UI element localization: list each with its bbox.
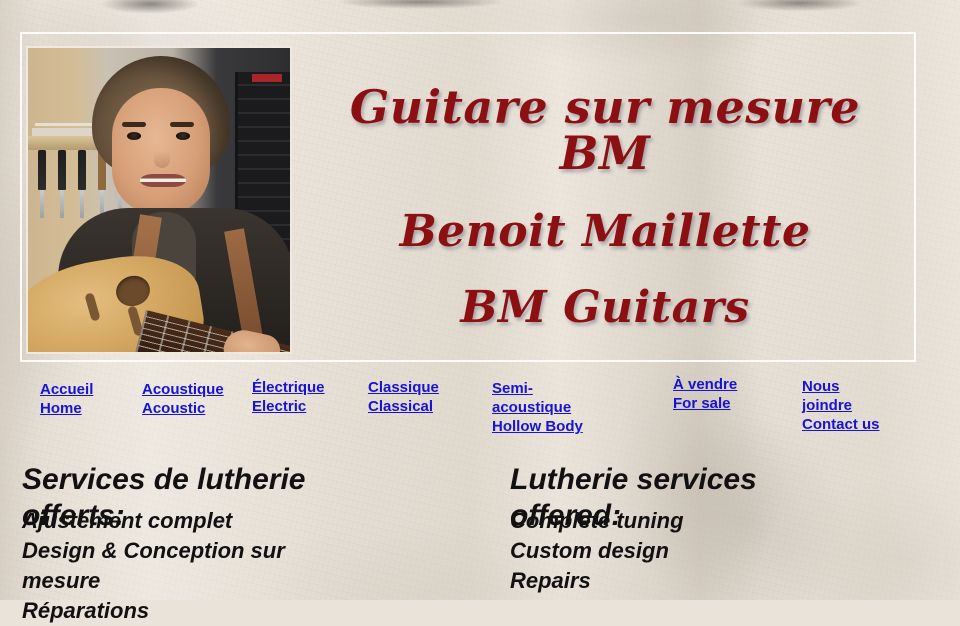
nav-link-acoustique[interactable]: Acoustique xyxy=(142,380,224,399)
nav-link-classique[interactable]: Classique xyxy=(368,378,439,397)
nav-link-joindre[interactable]: joindre xyxy=(802,396,880,415)
photo-chisel-icon xyxy=(78,150,86,190)
list-item: Réparations xyxy=(22,596,322,626)
nav-link-electric[interactable]: Electric xyxy=(252,397,325,416)
nav-link-hollow-body[interactable]: Hollow Body xyxy=(492,417,583,436)
nav-link-nous[interactable]: Nous xyxy=(802,377,880,396)
services-list-english: Complete tuning Custom design Repairs xyxy=(510,506,684,596)
main-navigation: Accueil Home Acoustique Acoustic Électri… xyxy=(0,370,960,440)
top-edge-strip xyxy=(0,0,960,7)
services-list-french: Ajustement complet Design & Conception s… xyxy=(22,506,322,626)
nav-link-acoustic[interactable]: Acoustic xyxy=(142,399,224,418)
list-item: Complete tuning xyxy=(510,506,684,536)
list-item: Ajustement complet xyxy=(22,506,322,536)
nav-link-a-vendre[interactable]: À vendre xyxy=(673,375,737,394)
site-title-line-1: Guitare sur mesure BM xyxy=(300,84,910,176)
nav-item-acoustic[interactable]: Acoustique Acoustic xyxy=(142,380,224,418)
site-title-line-3: BM Guitars xyxy=(300,286,910,330)
nav-item-contact[interactable]: Nous joindre Contact us xyxy=(802,377,880,434)
photo-eyebrow xyxy=(170,122,194,127)
nav-link-contact-us[interactable]: Contact us xyxy=(802,415,880,434)
nav-item-electric[interactable]: Électrique Electric xyxy=(252,378,325,416)
luthier-photo xyxy=(26,46,292,354)
services-column-english: Lutherie services offered: Complete tuni… xyxy=(510,462,950,534)
photo-nose xyxy=(154,140,170,168)
list-item: Custom design xyxy=(510,536,684,566)
nav-item-for-sale[interactable]: À vendre For sale xyxy=(673,375,737,413)
nav-link-electrique[interactable]: Électrique xyxy=(252,378,325,397)
services-heading-english-line-1: Lutherie services xyxy=(510,463,757,496)
services-heading-french-line-1: Services de lutherie xyxy=(22,463,305,496)
photo-eye xyxy=(176,132,190,140)
nav-link-accueil[interactable]: Accueil xyxy=(40,380,93,399)
site-title-block: Guitare sur mesure BM Benoit Maillette B… xyxy=(300,46,910,346)
site-title-line-2: Benoit Maillette xyxy=(300,210,910,254)
nav-item-hollow-body[interactable]: Semi- acoustique Hollow Body xyxy=(492,379,583,436)
photo-eye xyxy=(127,132,141,140)
nav-link-classical[interactable]: Classical xyxy=(368,397,439,416)
services-column-french: Services de lutherie offerts: Ajustement… xyxy=(22,462,492,534)
nav-item-classical[interactable]: Classique Classical xyxy=(368,378,439,416)
photo-smile xyxy=(140,174,186,187)
nav-item-home[interactable]: Accueil Home xyxy=(40,380,93,418)
nav-link-home[interactable]: Home xyxy=(40,399,93,418)
list-item: Repairs xyxy=(510,566,684,596)
photo-chisel-icon xyxy=(38,150,46,190)
list-item: Design & Conception sur mesure xyxy=(22,536,322,596)
nav-link-semi[interactable]: Semi- xyxy=(492,379,583,398)
photo-chisel-icon xyxy=(58,150,66,190)
nav-link-acoustique-semi[interactable]: acoustique xyxy=(492,398,583,417)
nav-link-for-sale[interactable]: For sale xyxy=(673,394,737,413)
photo-red-label xyxy=(252,74,282,82)
photo-eyebrow xyxy=(122,122,146,127)
